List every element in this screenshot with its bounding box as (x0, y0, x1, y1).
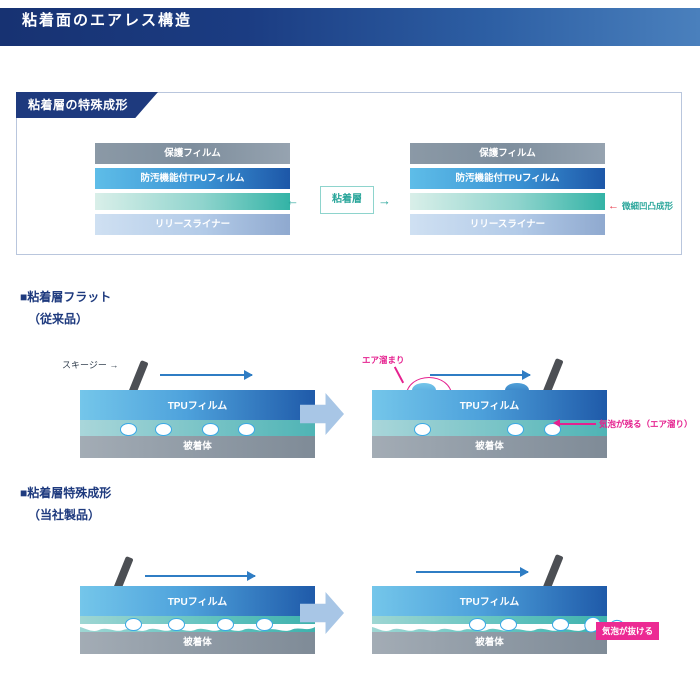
arrow-left-icon: ← (286, 193, 299, 208)
panel-tab-label: 粘着層の特殊成形 (16, 92, 158, 118)
page-title: 粘着面のエアレス構造 (22, 9, 192, 30)
section1-subheading: （従来品） (28, 310, 88, 327)
section2-heading: ■粘着層特殊成形 (20, 484, 111, 501)
air-bubble (125, 618, 142, 631)
callout-leader-line (560, 423, 596, 425)
layer-release-liner: リリースライナー (410, 214, 605, 235)
air-bubble (414, 423, 431, 436)
adhesive-layer-tag: 粘着層 (320, 186, 374, 214)
air-bubble (168, 618, 185, 631)
air-bubble (217, 618, 234, 631)
air-bubble (120, 423, 137, 436)
layer-release-liner: リリースライナー (95, 214, 290, 235)
air-bubble (238, 423, 255, 436)
layer-adhesive-flat (95, 193, 290, 210)
tpu-film-layer: TPUフィルム (80, 390, 315, 420)
arrow-right-icon: → (378, 193, 391, 208)
layer-stack-left: 保護フィルム 防汚機能付TPUフィルム リリースライナー (95, 143, 290, 239)
callout-arrowhead-icon (553, 419, 560, 427)
adhesive-layer-textured (80, 616, 315, 632)
layer-protective-film: 保護フィルム (95, 143, 290, 164)
tpu-film-layer: TPUフィルム (372, 586, 607, 616)
direction-arrow-icon (416, 571, 528, 573)
micro-callout-arrow-icon: ← (608, 200, 619, 212)
layer-adhesive-textured (410, 193, 605, 210)
adhesive-layer-textured (372, 616, 607, 632)
tpu-film-layer: TPUフィルム (372, 390, 607, 420)
air-bubble (202, 423, 219, 436)
substrate-layer: 被着体 (80, 632, 315, 654)
tpu-film-layer: TPUフィルム (80, 586, 315, 616)
diagram-textured-before: TPUフィルム 被着体 (80, 586, 315, 648)
squeegee-label: スキージー → (62, 358, 118, 371)
section2-subheading: （当社製品） (28, 506, 100, 523)
substrate-layer: 被着体 (372, 436, 607, 458)
adhesive-layer-flat (80, 420, 315, 436)
air-bubble (256, 618, 273, 631)
layer-tpu-film: 防汚機能付TPUフィルム (410, 168, 605, 189)
diagram-flat-after: TPUフィルム 被着体 (372, 390, 607, 452)
diagram-flat-before: TPUフィルム 被着体 (80, 390, 315, 452)
bubble-remains-note: 気泡が残る（エア溜り） (599, 418, 693, 430)
layer-stack-right: 保護フィルム 防汚機能付TPUフィルム リリースライナー (410, 143, 605, 239)
direction-arrow-icon (160, 374, 252, 376)
callout-leader-line (394, 367, 404, 384)
substrate-layer: 被着体 (80, 436, 315, 458)
air-bubble (155, 423, 172, 436)
air-bubble (469, 618, 486, 631)
section1-heading: ■粘着層フラット (20, 288, 111, 305)
air-pocket-label: エア溜まり (362, 354, 405, 366)
air-bubble (507, 423, 524, 436)
bubble-escapes-badge: 気泡が抜ける (596, 622, 659, 640)
direction-arrow-icon (145, 575, 255, 577)
substrate-layer: 被着体 (372, 632, 607, 654)
air-bubble (500, 618, 517, 631)
air-bubble (552, 618, 569, 631)
micro-texture-note: 微細凹凸成形 (622, 200, 673, 212)
layer-protective-film: 保護フィルム (410, 143, 605, 164)
direction-arrow-icon (430, 374, 530, 376)
layer-tpu-film: 防汚機能付TPUフィルム (95, 168, 290, 189)
diagram-textured-after: TPUフィルム 被着体 (372, 586, 607, 648)
